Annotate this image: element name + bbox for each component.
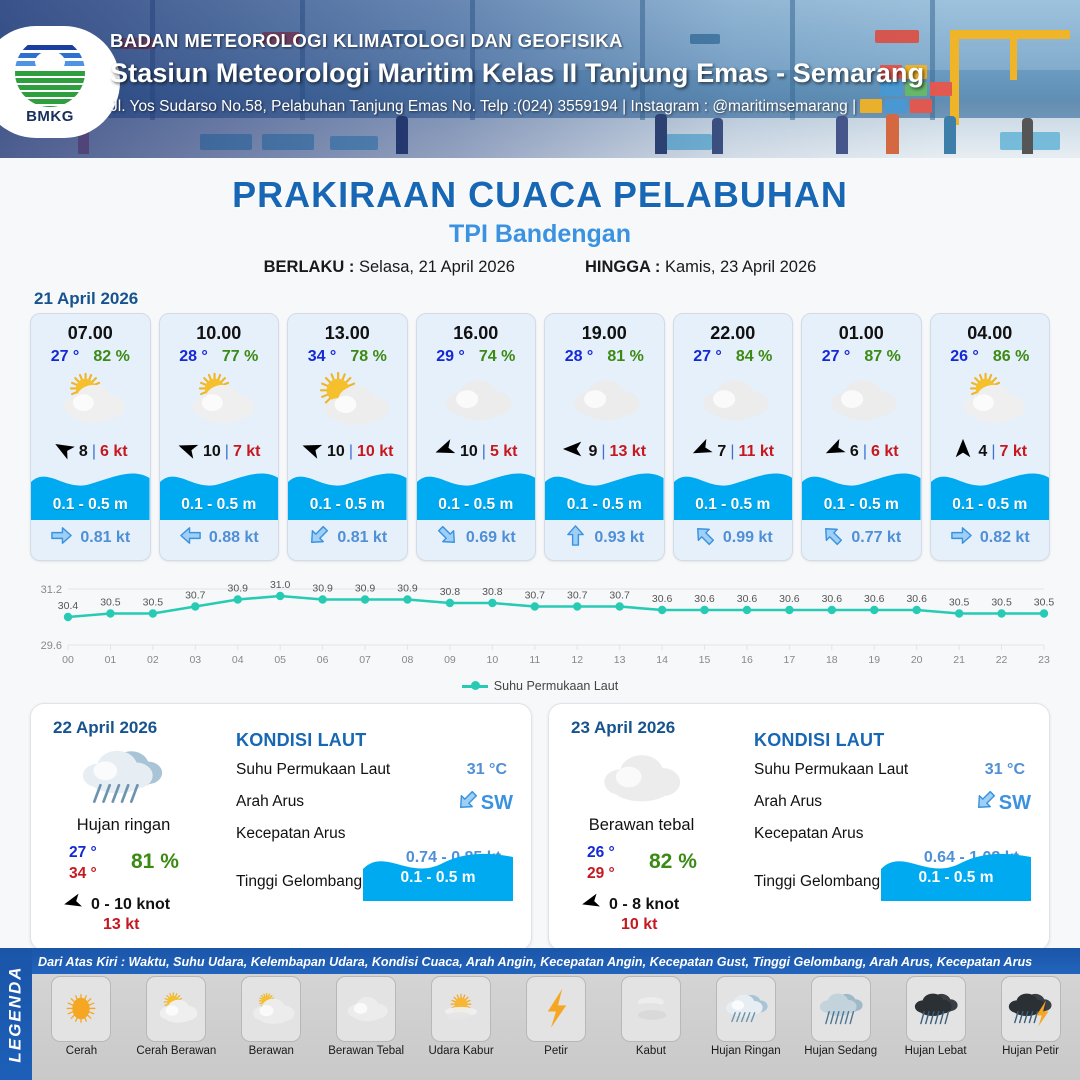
card-time: 13.00 [288,323,407,344]
sea-row-label: Kecepatan Arus [754,825,863,842]
legend-icon-rain-thunder [1001,976,1061,1042]
card-gust: 11 kt [738,443,774,461]
card-wave-height: 0.1 - 0.5 m [31,496,150,514]
svg-text:20: 20 [911,654,923,666]
current-direction-value: SW [974,789,1031,818]
legend-item: Petir [511,976,602,1057]
current-direction-arrow-icon [307,524,330,552]
sea-row-label: Kecepatan Arus [236,825,345,842]
daily-humidity: 81 % [131,850,179,874]
hourly-card: 13.0034 °78 %10|10 kt0.1 - 0.5 m0.81 kt [287,313,408,561]
card-gust: 6 kt [100,443,128,461]
current-direction-arrow-icon [693,524,716,552]
wind-direction-arrow-icon [562,438,584,465]
svg-text:05: 05 [274,654,286,666]
card-time: 07.00 [31,323,150,344]
daily-gust: 13 kt [103,916,139,934]
legend-item: Berawan Tebal [321,976,412,1057]
card-humidity: 84 % [736,348,772,366]
svg-text:30.5: 30.5 [949,597,970,609]
card-humidity: 78 % [350,348,386,366]
legend-icon-haze [431,976,491,1042]
svg-text:10: 10 [487,654,499,666]
svg-text:30.6: 30.6 [694,593,715,605]
sea-condition-title: KONDISI LAUT [236,730,517,751]
daily-temp-max: 34 ° [69,863,97,884]
sea-surface-temp-value: 31 °C [467,761,507,779]
legend-icon-lightning [526,976,586,1042]
card-wind-speed: 8 [79,443,88,461]
card-temperature: 27 ° [822,348,851,366]
hourly-card: 07.0027 °82 %8|6 kt0.1 - 0.5 m0.81 kt [30,313,151,561]
svg-text:30.8: 30.8 [482,586,503,598]
svg-text:22: 22 [996,654,1008,666]
svg-text:31.0: 31.0 [270,579,291,591]
svg-text:30.5: 30.5 [100,597,121,609]
daily-condition: Hujan ringan [31,816,216,835]
svg-text:17: 17 [784,654,796,666]
card-wave-height: 0.1 - 0.5 m [802,496,921,514]
wind-direction-arrow-icon [691,438,713,465]
card-gust: 6 kt [871,443,899,461]
card-gust: 7 kt [233,443,261,461]
daily-panel: 22 April 2026Hujan ringan27 °34 °81 %0 -… [30,703,532,951]
svg-text:30.6: 30.6 [779,593,800,605]
wind-direction-arrow-icon [824,438,846,465]
daily-forecast-row: 22 April 2026Hujan ringan27 °34 °81 %0 -… [0,693,1080,951]
weather-icon-sun-cloud [31,370,150,430]
card-separator: | [863,443,867,461]
current-direction-arrow-icon [974,789,997,818]
sst-legend-marker [462,685,488,688]
daily-wind-arrow-icon [581,892,601,917]
svg-text:23: 23 [1038,654,1050,666]
hourly-card: 22.0027 °84 %7|11 kt0.1 - 0.5 m0.99 kt [673,313,794,561]
svg-text:30.9: 30.9 [397,583,418,595]
card-wave-height: 0.1 - 0.5 m [160,496,279,514]
card-separator: | [730,443,734,461]
card-temperature: 27 ° [693,348,722,366]
current-direction-arrow-icon [564,524,587,552]
daily-condition: Berawan tebal [549,816,734,835]
card-gust: 10 kt [357,443,393,461]
legend-icon-fog [621,976,681,1042]
card-time: 10.00 [160,323,279,344]
legend-icon-list: CerahCerah BerawanBerawanBerawan TebalUd… [36,976,1076,1057]
legend-item-label: Hujan Lebat [905,1045,967,1057]
legend-icon-rain-light [716,976,776,1042]
legend-item-label: Cerah [66,1045,97,1057]
valid-from-label: BERLAKU : [264,258,355,276]
wind-direction-arrow-icon [301,438,323,465]
card-wind-speed: 10 [203,443,221,461]
card-wave-height: 0.1 - 0.5 m [545,496,664,514]
legend-item-label: Kabut [636,1045,666,1057]
sea-row-label: Arah Arus [754,793,822,810]
card-humidity: 86 % [993,348,1029,366]
legend-bar: LEGENDA Dari Atas Kiri : Waktu, Suhu Uda… [0,948,1080,1080]
legend-item: Cerah [36,976,127,1057]
card-separator: | [601,443,605,461]
legend-icon-sun-cloud-more [241,976,301,1042]
svg-text:30.6: 30.6 [737,593,758,605]
card-wind-speed: 9 [588,443,597,461]
daily-wind-range: 0 - 8 knot [609,896,679,914]
daily-temp-max: 29 ° [587,863,615,884]
svg-text:14: 14 [656,654,668,666]
svg-text:13: 13 [614,654,626,666]
sea-row-label: Arah Arus [236,793,304,810]
card-wave-height: 0.1 - 0.5 m [288,496,407,514]
legend-icon-sun [51,976,111,1042]
card-current-speed: 0.81 kt [337,529,387,547]
current-direction-arrow-icon [50,524,73,552]
legend-item: Hujan Petir [985,976,1076,1057]
card-time: 04.00 [931,323,1050,344]
weather-icon-cloud [545,370,664,430]
svg-text:00: 00 [62,654,74,666]
legend-item: Hujan Lebat [890,976,981,1057]
valid-from-value: Selasa, 21 April 2026 [359,258,515,276]
sea-row-label: Tinggi Gelombang [754,873,880,890]
legend-icon-rain-heavy [906,976,966,1042]
svg-text:21: 21 [953,654,965,666]
hourly-card: 19.0028 °81 %9|13 kt0.1 - 0.5 m0.93 kt [544,313,665,561]
svg-text:01: 01 [105,654,117,666]
legend-item: Berawan [226,976,317,1057]
sst-chart: 31.229.600010203040506070809101112131415… [22,573,1058,673]
card-wind-speed: 10 [460,443,478,461]
bmkg-logo: BMKG [0,26,120,138]
wind-direction-arrow-icon [53,438,75,465]
daily-wind-range: 0 - 10 knot [91,896,170,914]
wind-direction-arrow-icon [952,438,974,465]
legend-item: Cerah Berawan [131,976,222,1057]
daily-gust: 10 kt [621,916,657,934]
legend-icon-rain-moderate [811,976,871,1042]
svg-text:30.7: 30.7 [609,590,630,602]
card-time: 22.00 [674,323,793,344]
svg-text:16: 16 [741,654,753,666]
legend-icon-cloud [336,976,396,1042]
card-wave-height: 0.1 - 0.5 m [674,496,793,514]
daily-temp-min: 27 ° [69,842,97,863]
card-temperature: 34 ° [308,348,337,366]
station-name: Stasiun Meteorologi Maritim Kelas II Tan… [110,58,1070,89]
card-time: 16.00 [417,323,536,344]
weather-icon-sun-cloud-big [288,370,407,430]
daily-wave-height: 0.1 - 0.5 m [881,869,1031,887]
legend-item: Hujan Ringan [700,976,791,1057]
sea-surface-temp-value: 31 °C [985,761,1025,779]
card-humidity: 74 % [479,348,515,366]
svg-text:30.6: 30.6 [906,593,927,605]
card-separator: | [92,443,96,461]
card-temperature: 28 ° [179,348,208,366]
svg-text:03: 03 [189,654,201,666]
hourly-card: 16.0029 °74 %10|5 kt0.1 - 0.5 m0.69 kt [416,313,537,561]
daily-panel: 23 April 2026Berawan tebal26 °29 °82 %0 … [548,703,1050,951]
card-separator: | [991,443,995,461]
legend-side-label: LEGENDA [0,948,32,1080]
hourly-date-label: 21 April 2026 [34,289,1080,309]
card-time: 19.00 [545,323,664,344]
legend-item-label: Hujan Ringan [711,1045,781,1057]
card-separator: | [482,443,486,461]
svg-text:30.6: 30.6 [864,593,885,605]
bmkg-logo-text: BMKG [26,108,74,125]
svg-text:30.5: 30.5 [143,597,164,609]
current-direction-arrow-icon [179,524,202,552]
card-current-speed: 0.69 kt [466,529,516,547]
legend-icon-sun-cloud [146,976,206,1042]
hourly-card: 10.0028 °77 %10|7 kt0.1 - 0.5 m0.88 kt [159,313,280,561]
daily-weather-icon-rain-light [61,742,181,814]
card-wind-speed: 10 [327,443,345,461]
legend-item-label: Udara Kabur [428,1045,493,1057]
card-temperature: 27 ° [51,348,80,366]
svg-text:30.5: 30.5 [1034,597,1055,609]
svg-text:30.9: 30.9 [312,583,333,595]
svg-text:31.2: 31.2 [41,584,62,596]
svg-text:15: 15 [699,654,711,666]
svg-text:30.8: 30.8 [440,586,461,598]
legend-item-label: Hujan Petir [1002,1045,1059,1057]
daily-wave-height: 0.1 - 0.5 m [363,869,513,887]
hourly-card: 01.0027 °87 %6|6 kt0.1 - 0.5 m0.77 kt [801,313,922,561]
current-direction-arrow-icon [436,524,459,552]
daily-date: 22 April 2026 [53,718,157,738]
weather-icon-cloud [674,370,793,430]
card-gust: 7 kt [999,443,1027,461]
svg-text:08: 08 [402,654,414,666]
card-wind-speed: 6 [850,443,859,461]
card-temperature: 29 ° [436,348,465,366]
svg-text:18: 18 [826,654,838,666]
daily-date: 23 April 2026 [571,718,675,738]
svg-text:07: 07 [359,654,371,666]
current-direction-arrow-icon [821,524,844,552]
card-separator: | [225,443,229,461]
sea-row-label: Suhu Permukaan Laut [754,761,908,778]
card-humidity: 82 % [93,348,129,366]
card-gust: 5 kt [490,443,518,461]
daily-wind-arrow-icon [63,892,83,917]
daily-humidity: 82 % [649,850,697,874]
page-title: PRAKIRAAN CUACA PELABUHAN [0,174,1080,216]
valid-to-label: HINGGA : [585,258,660,276]
weather-icon-sun-cloud [931,370,1050,430]
hourly-forecast-row: 07.0027 °82 %8|6 kt0.1 - 0.5 m0.81 kt10.… [0,313,1080,561]
current-direction-arrow-icon [950,524,973,552]
page-subtitle: TPI Bandengan [0,220,1080,249]
svg-text:30.7: 30.7 [525,590,546,602]
svg-text:30.7: 30.7 [567,590,588,602]
weather-icon-cloud [417,370,536,430]
svg-text:30.9: 30.9 [355,583,376,595]
legend-item-label: Cerah Berawan [136,1045,216,1057]
agency-name: BADAN METEOROLOGI KLIMATOLOGI DAN GEOFIS… [110,30,1070,52]
card-wind-speed: 4 [978,443,987,461]
legend-item-label: Berawan [249,1045,294,1057]
legend-item-label: Berawan Tebal [328,1045,404,1057]
wind-direction-arrow-icon [177,438,199,465]
validity-range: BERLAKU : Selasa, 21 April 2026 HINGGA :… [0,258,1080,277]
svg-text:11: 11 [529,654,540,666]
current-direction-value: SW [456,789,513,818]
card-current-speed: 0.81 kt [80,529,130,547]
card-separator: | [349,443,353,461]
svg-text:30.9: 30.9 [228,583,249,595]
card-temperature: 28 ° [565,348,594,366]
svg-text:30.7: 30.7 [185,590,206,602]
svg-text:30.5: 30.5 [991,597,1012,609]
svg-text:02: 02 [147,654,159,666]
sea-row-label: Suhu Permukaan Laut [236,761,390,778]
weather-icon-sun-cloud [160,370,279,430]
daily-temp-min: 26 ° [587,842,615,863]
svg-text:04: 04 [232,654,244,666]
current-direction-arrow-icon [456,789,479,818]
card-humidity: 81 % [607,348,643,366]
card-current-speed: 0.88 kt [209,529,259,547]
card-current-speed: 0.93 kt [594,529,644,547]
legend-item: Hujan Sedang [795,976,886,1057]
card-time: 01.00 [802,323,921,344]
legend-item-label: Petir [544,1045,568,1057]
hourly-card: 04.0026 °86 %4|7 kt0.1 - 0.5 m0.82 kt [930,313,1051,561]
card-current-speed: 0.77 kt [851,529,901,547]
sst-legend-label: Suhu Permukaan Laut [494,679,618,693]
svg-text:30.4: 30.4 [58,600,79,612]
legend-item-label: Hujan Sedang [804,1045,877,1057]
wind-direction-arrow-icon [434,438,456,465]
legend-note: Dari Atas Kiri : Waktu, Suhu Udara, Kele… [38,955,1076,969]
page-header: BMKG BADAN METEOROLOGI KLIMATOLOGI DAN G… [0,0,1080,158]
card-current-speed: 0.82 kt [980,529,1030,547]
infographic-page: BMKG BADAN METEOROLOGI KLIMATOLOGI DAN G… [0,0,1080,1080]
svg-text:29.6: 29.6 [41,640,62,652]
card-temperature: 26 ° [950,348,979,366]
weather-icon-cloud [802,370,921,430]
sea-row-label: Tinggi Gelombang [236,873,362,890]
card-current-speed: 0.99 kt [723,529,773,547]
station-address: Jl. Yos Sudarso No.58, Pelabuhan Tanjung… [110,98,1070,116]
svg-text:19: 19 [868,654,880,666]
daily-weather-icon-cloud [579,742,699,814]
legend-item: Udara Kabur [416,976,507,1057]
valid-to-value: Kamis, 23 April 2026 [665,258,816,276]
bmkg-logo-mark [15,37,85,107]
card-wave-height: 0.1 - 0.5 m [417,496,536,514]
sst-chart-legend: Suhu Permukaan Laut [0,679,1080,693]
card-humidity: 87 % [864,348,900,366]
legend-item: Kabut [605,976,696,1057]
card-wave-height: 0.1 - 0.5 m [931,496,1050,514]
card-wind-speed: 7 [717,443,726,461]
svg-text:09: 09 [444,654,456,666]
card-humidity: 77 % [222,348,258,366]
svg-text:12: 12 [571,654,583,666]
svg-text:30.6: 30.6 [652,593,673,605]
svg-text:06: 06 [317,654,329,666]
sea-condition-title: KONDISI LAUT [754,730,1035,751]
svg-text:30.6: 30.6 [822,593,843,605]
card-gust: 13 kt [610,443,646,461]
